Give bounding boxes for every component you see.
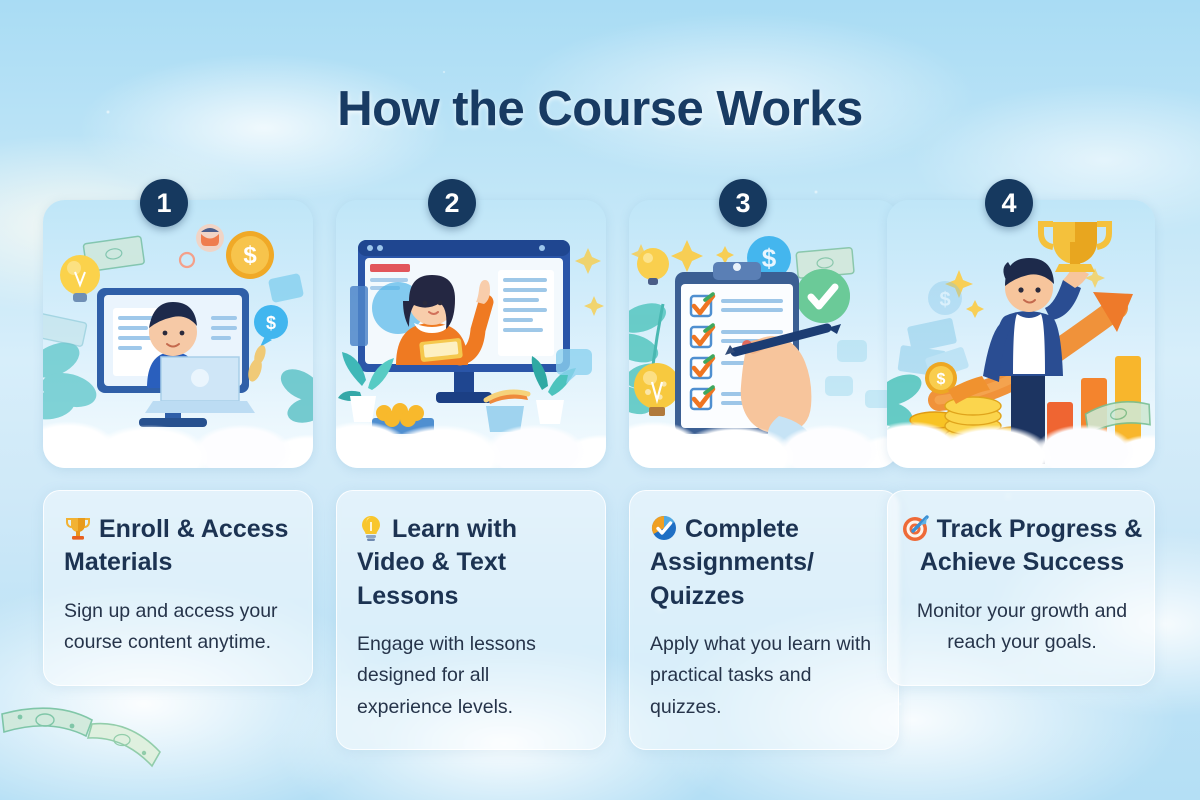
step-heading-text-4: Track Progress & Achieve Success — [920, 515, 1142, 576]
step-illustration-2 — [336, 200, 606, 468]
dartboard-icon — [902, 514, 930, 542]
step-column-2: 2 — [336, 0, 606, 800]
step-card-3: Complete Assignments/ Quizzes Apply what… — [629, 490, 899, 750]
svg-text:$: $ — [939, 289, 950, 311]
step-illustration-1: $ $ — [43, 200, 313, 468]
step-illustration-3: $ — [629, 200, 899, 468]
step-column-1: 1 — [43, 0, 313, 800]
step-body-4: Monitor your growth and reach your goals… — [900, 596, 1144, 659]
step-column-4: 4 $ — [887, 0, 1155, 800]
step-body-1: Sign up and access your course content a… — [64, 596, 292, 659]
lightbulb-icon — [357, 514, 385, 542]
svg-text:$: $ — [243, 242, 257, 269]
step-card-1: Enroll & Access Materials Sign up and ac… — [43, 490, 313, 686]
step-heading-2: Learn with Video & Text Lessons — [357, 513, 585, 613]
step-heading-text-1: Enroll & Access Materials — [64, 515, 288, 576]
step-heading-3: Complete Assignments/ Quizzes — [650, 513, 878, 613]
step-card-2: Learn with Video & Text Lessons Engage w… — [336, 490, 606, 750]
trophy-icon — [64, 514, 92, 542]
step-number-badge-3: 3 — [719, 179, 767, 227]
step-heading-1: Enroll & Access Materials — [64, 513, 292, 580]
infographic-canvas: How the Course Works 1 — [0, 0, 1200, 800]
step-number-badge-4: 4 — [985, 179, 1033, 227]
step-body-2: Engage with lessons designed for all exp… — [357, 629, 585, 724]
step-number-badge-1: 1 — [140, 179, 188, 227]
step-column-3: 3 — [629, 0, 899, 800]
svg-text:$: $ — [937, 371, 946, 388]
step-number-badge-2: 2 — [428, 179, 476, 227]
step-illustration-4: $ — [887, 200, 1155, 468]
step-card-4: Track Progress & Achieve Success Monitor… — [887, 490, 1155, 686]
check-circle-icon — [650, 514, 678, 542]
step-heading-4: Track Progress & Achieve Success — [900, 513, 1144, 580]
step-body-3: Apply what you learn with practical task… — [650, 629, 878, 724]
svg-text:$: $ — [762, 243, 777, 273]
svg-text:$: $ — [266, 313, 276, 333]
